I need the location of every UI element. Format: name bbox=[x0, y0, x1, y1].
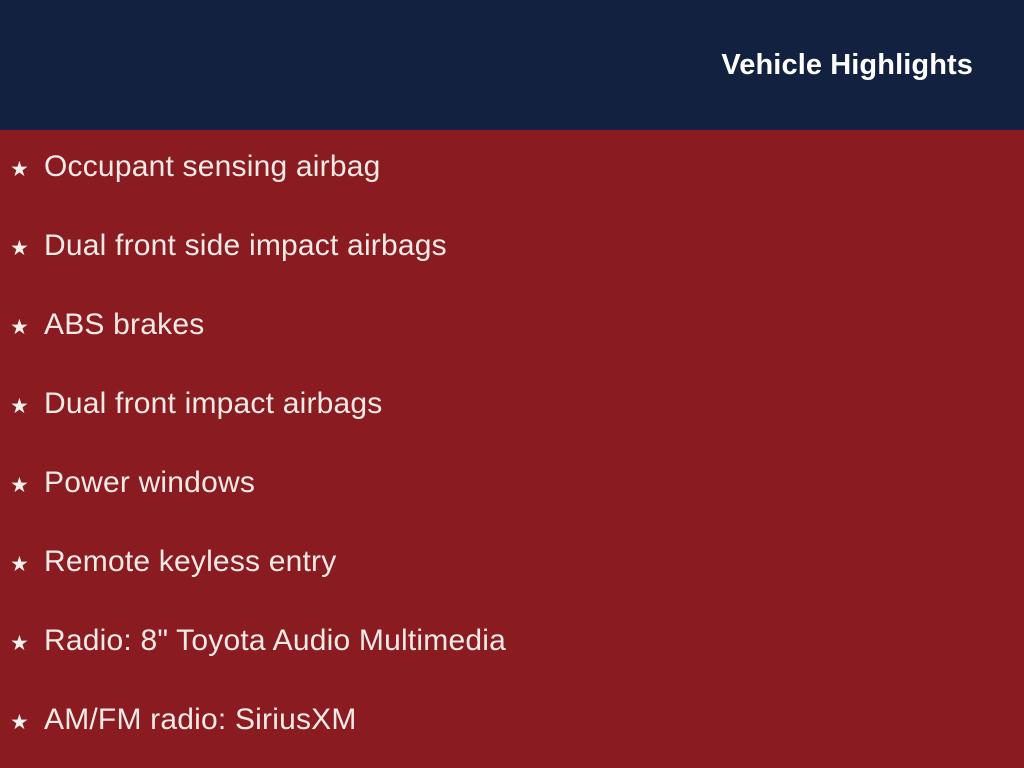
list-item: ★ Radio: 8" Toyota Audio Multimedia bbox=[0, 626, 1024, 705]
star-icon: ★ bbox=[10, 633, 44, 654]
star-icon: ★ bbox=[10, 712, 44, 733]
list-item-label: Dual front side impact airbags bbox=[44, 231, 1024, 261]
list-item-label: Power windows bbox=[44, 468, 1024, 498]
star-icon: ★ bbox=[10, 159, 44, 180]
list-item: ★ Dual front side impact airbags bbox=[0, 231, 1024, 310]
list-item: ★ Occupant sensing airbag bbox=[0, 152, 1024, 231]
slide-body: ★ Occupant sensing airbag ★ Dual front s… bbox=[0, 130, 1024, 768]
list-item-label: Occupant sensing airbag bbox=[44, 152, 1024, 182]
list-item-label: AM/FM radio: SiriusXM bbox=[44, 705, 1024, 735]
star-icon: ★ bbox=[10, 317, 44, 338]
star-icon: ★ bbox=[10, 475, 44, 496]
list-item-label: Remote keyless entry bbox=[44, 547, 1024, 577]
list-item: ★ Dual front impact airbags bbox=[0, 389, 1024, 468]
vehicle-highlights-slide: Vehicle Highlights ★ Occupant sensing ai… bbox=[0, 0, 1024, 768]
list-item-label: Radio: 8" Toyota Audio Multimedia bbox=[44, 626, 1024, 656]
star-icon: ★ bbox=[10, 238, 44, 259]
star-icon: ★ bbox=[10, 396, 44, 417]
star-icon: ★ bbox=[10, 554, 44, 575]
list-item: ★ ABS brakes bbox=[0, 310, 1024, 389]
vehicle-highlights-list: ★ Occupant sensing airbag ★ Dual front s… bbox=[0, 152, 1024, 768]
list-item: ★ Remote keyless entry bbox=[0, 547, 1024, 626]
page-title: Vehicle Highlights bbox=[721, 51, 973, 80]
list-item: ★ Power windows bbox=[0, 468, 1024, 547]
list-item-label: ABS brakes bbox=[44, 310, 1024, 340]
list-item-label: Dual front impact airbags bbox=[44, 389, 1024, 419]
list-item: ★ AM/FM radio: SiriusXM bbox=[0, 705, 1024, 768]
slide-header: Vehicle Highlights bbox=[0, 0, 1024, 130]
